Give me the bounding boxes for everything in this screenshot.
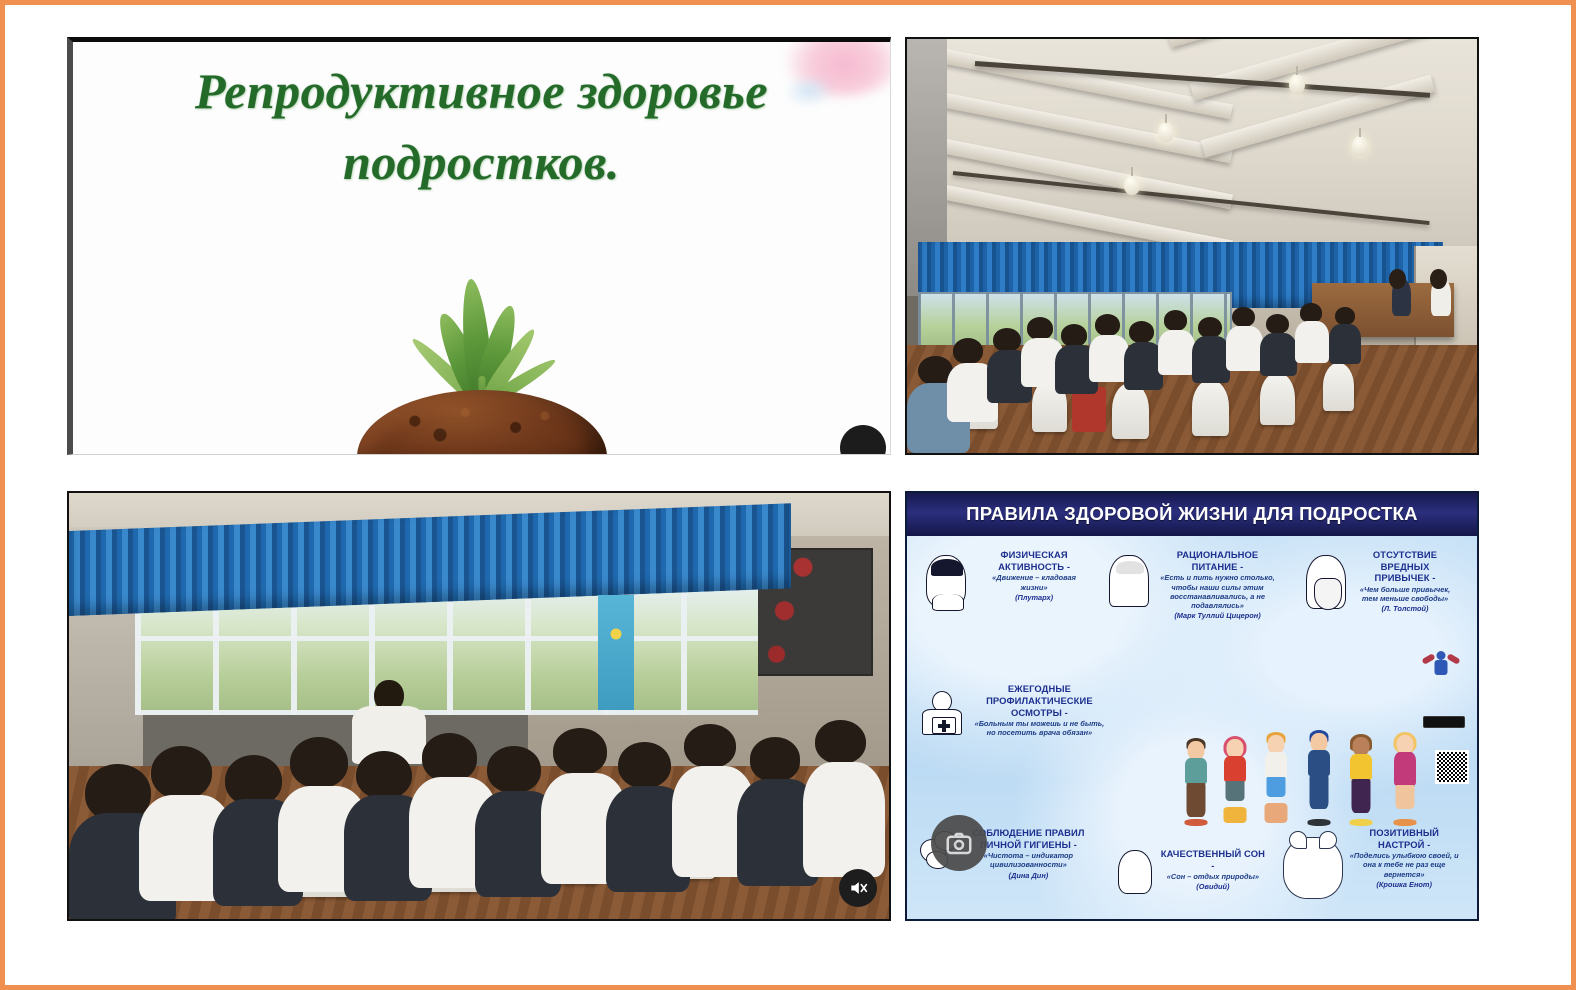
ceiling xyxy=(907,39,1477,258)
item-title: ФИЗИЧЕСКАЯ АКТИВНОСТЬ - xyxy=(978,549,1090,572)
qr-code-icon[interactable] xyxy=(1435,750,1469,784)
camera-photo-icon[interactable] xyxy=(931,815,987,871)
item-author: (Крошка Енот) xyxy=(1345,880,1463,889)
teen-figure xyxy=(1303,733,1335,823)
item-quote: «Чистота – индикатор цивилизованности» xyxy=(966,851,1090,869)
teen-legs xyxy=(1310,775,1329,809)
teen-figure xyxy=(1389,735,1421,823)
student-head xyxy=(750,737,801,781)
teen-torso xyxy=(1350,754,1372,780)
teen-legs-skin xyxy=(1265,803,1288,823)
plutarch-bust-icon xyxy=(926,555,966,607)
item-quote: «Сон – отдых природы» xyxy=(1158,872,1268,881)
student-head xyxy=(1198,317,1222,338)
student-head xyxy=(1300,303,1322,322)
student-head xyxy=(422,733,478,782)
item-title: КАЧЕСТВЕННЫЙ СОН - xyxy=(1158,848,1268,871)
student-body xyxy=(1158,330,1196,375)
student-head xyxy=(993,328,1022,352)
item-title: ОТСУТСТВИЕ ВРЕДНЫХ ПРИВЫЧЕК - xyxy=(1352,549,1458,584)
student-head xyxy=(1129,321,1154,343)
overlay-circle-icon[interactable] xyxy=(840,425,886,455)
student-head xyxy=(815,720,866,764)
item-quote: «Чем больше привычек, тем меньше свободы… xyxy=(1352,585,1458,603)
teen-torso xyxy=(1308,750,1330,776)
pendant-lamp-icon xyxy=(1158,122,1174,142)
teen-shoes xyxy=(1184,819,1207,826)
photo-grid: Репродуктивное здоровье подростков. xyxy=(62,32,1524,926)
student-head xyxy=(151,746,212,799)
raccoon-icon xyxy=(1283,837,1343,899)
classroom-wide-photo[interactable] xyxy=(905,37,1479,455)
student-body xyxy=(1192,336,1230,383)
student-body xyxy=(1295,321,1329,363)
teen-figure xyxy=(1346,737,1376,823)
presentation-title-slide[interactable]: Репродуктивное здоровье подростков. xyxy=(67,37,891,455)
cicero-bust-icon xyxy=(1109,555,1149,607)
student-head xyxy=(487,746,541,793)
first-aid-kit-icon xyxy=(932,717,956,734)
teen-legs xyxy=(1395,785,1414,809)
teen-torso xyxy=(1265,752,1287,778)
item-quote: «Есть и пить нужно столько, чтобы наши с… xyxy=(1157,573,1279,610)
teen-legs xyxy=(1267,777,1286,797)
teen-legs xyxy=(1186,783,1205,817)
teen-shoes xyxy=(1224,807,1247,823)
item-title: ПОЗИТИВНЫЙ НАСТРОЙ - xyxy=(1345,827,1463,850)
pendant-lamp-icon xyxy=(1352,136,1368,156)
poster-title: ПРАВИЛА ЗДОРОВОЙ ЖИЗНИ ДЛЯ ПОДРОСТКА xyxy=(966,503,1418,525)
sprout-illustration xyxy=(332,224,632,454)
item-quote: «Движение – кладовая жизни» xyxy=(978,573,1090,591)
teen-dress xyxy=(1394,752,1416,786)
slide-title-line-1: Репродуктивное здоровье xyxy=(195,63,768,119)
student-head xyxy=(1266,314,1289,334)
classroom-wide-photo-content xyxy=(907,39,1477,453)
student-head xyxy=(684,724,736,768)
slide-canvas: Репродуктивное здоровье подростков. xyxy=(73,42,890,454)
student-head xyxy=(356,751,412,800)
doctor-icon xyxy=(920,691,964,737)
student-head xyxy=(553,728,607,775)
item-title: РАЦИОНАЛЬНОЕ ПИТАНИЕ - xyxy=(1157,549,1279,572)
teen-figure xyxy=(1260,735,1292,823)
person-head xyxy=(1437,651,1446,660)
student-head xyxy=(953,338,984,364)
student-head xyxy=(1095,314,1120,336)
teen-legs xyxy=(1226,781,1245,801)
student-body xyxy=(1260,333,1296,376)
pendant-lamp-icon xyxy=(1124,175,1140,195)
student-head xyxy=(1335,307,1356,325)
item-author: (Плутарх) xyxy=(978,593,1090,602)
page-canvas: Репродуктивное здоровье подростков. xyxy=(0,0,1576,990)
item-author: (Дина Дин) xyxy=(966,871,1090,880)
item-author: (Л. Толстой) xyxy=(1352,604,1458,613)
arm-left xyxy=(1421,653,1435,665)
ovid-bust-icon xyxy=(1118,850,1152,894)
chair xyxy=(1192,380,1229,436)
slide-title-line-2: подростков. xyxy=(73,127,890,198)
health-rules-poster[interactable]: ПРАВИЛА ЗДОРОВОЙ ЖИЗНИ ДЛЯ ПОДРОСТКА ФИЗ… xyxy=(905,491,1479,921)
teen-torso xyxy=(1224,756,1246,782)
teen-legs xyxy=(1351,779,1370,813)
teen-shoes xyxy=(1308,819,1331,826)
student-head xyxy=(1232,307,1255,327)
student-head xyxy=(290,737,347,788)
teen-torso xyxy=(1185,758,1207,784)
soil-mound xyxy=(357,390,607,455)
classroom-audience-photo-content xyxy=(69,493,889,919)
teen-figure xyxy=(1181,741,1211,823)
chair xyxy=(1323,363,1354,412)
slide-title: Репродуктивное здоровье подростков. xyxy=(73,56,890,198)
student-head xyxy=(1027,317,1053,340)
tolstoy-bust-icon xyxy=(1306,555,1346,609)
teen-figure xyxy=(1220,739,1250,823)
person-body xyxy=(1435,660,1448,675)
student-body xyxy=(1226,326,1262,371)
celebrating-person-icon xyxy=(1421,651,1461,677)
teen-shoes xyxy=(1349,819,1372,826)
student-head xyxy=(1061,324,1087,347)
poster-body: ФИЗИЧЕСКАЯ АКТИВНОСТЬ - «Движение – клад… xyxy=(907,536,1477,919)
teens-illustration xyxy=(1175,662,1460,823)
classroom-audience-photo[interactable] xyxy=(67,491,891,921)
item-title: ЕЖЕГОДНЫЕ ПРОФИЛАКТИЧЕСКИЕ ОСМОТРЫ - xyxy=(972,683,1106,718)
chair xyxy=(1260,373,1294,425)
audience-crowd xyxy=(69,697,889,919)
pendant-lamp-icon xyxy=(1289,74,1305,94)
arm-right xyxy=(1446,653,1460,665)
item-quote: «Поделись улыбкою своей, и она к тебе не… xyxy=(1345,851,1463,879)
app-badge-button[interactable] xyxy=(1423,716,1465,728)
kazakhstan-flag xyxy=(598,595,634,710)
item-author: (Овидий) xyxy=(1158,882,1268,891)
chair xyxy=(1112,383,1149,439)
item-quote: «Больным ты можешь и не быть, но посетит… xyxy=(972,719,1106,737)
mute-speaker-icon[interactable] xyxy=(839,869,877,907)
student-head xyxy=(225,755,282,806)
teen-shoes xyxy=(1393,819,1416,826)
poster-header: ПРАВИЛА ЗДОРОВОЙ ЖИЗНИ ДЛЯ ПОДРОСТКА xyxy=(907,493,1477,536)
student-body xyxy=(1329,324,1361,364)
item-author: (Марк Туллий Цицерон) xyxy=(1157,611,1279,620)
ceiling-wire xyxy=(952,171,1429,225)
student-body xyxy=(803,762,885,877)
student-head xyxy=(618,742,670,789)
student-head xyxy=(1164,310,1188,331)
